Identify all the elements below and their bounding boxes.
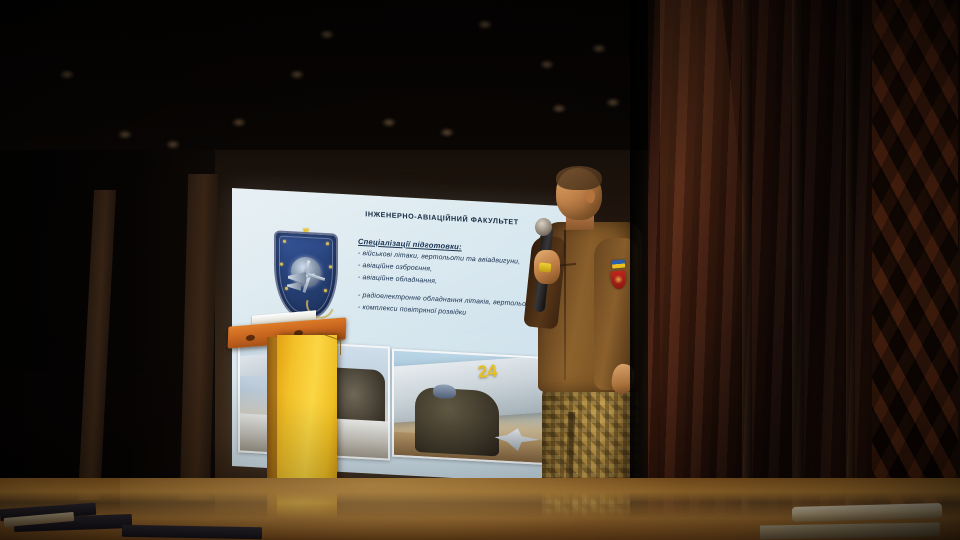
aircraft-icon	[288, 271, 306, 284]
stage-scene: ІНЖЕНЕРНО-АВІАЦІЙНИЙ ФАКУЛЬТЕТ ▼	[0, 0, 960, 540]
ceiling-light-icon	[592, 44, 606, 53]
ceiling-light-icon	[440, 128, 454, 137]
curtain-fold	[742, 0, 752, 540]
hair	[556, 166, 602, 190]
decorative-wall-panel	[872, 0, 958, 540]
propeller-hub-icon	[291, 256, 321, 288]
ceiling-light-icon	[606, 98, 620, 107]
foreground-papers	[122, 525, 262, 539]
ceiling-light-icon	[540, 60, 554, 69]
shield-icon	[274, 230, 338, 319]
microphone-tape-band	[539, 262, 552, 272]
ceiling-light-icon	[290, 70, 304, 79]
ceiling-light-icon	[232, 118, 246, 127]
ukraine-flag-patch-icon	[612, 259, 626, 268]
curtain-fold	[846, 0, 855, 540]
ceiling-light-icon	[552, 104, 566, 113]
curtain-fold	[792, 0, 804, 540]
faculty-emblem-icon: ▼	[274, 230, 338, 319]
aircraft-tail-number: 24	[477, 361, 498, 382]
ear	[586, 190, 595, 203]
ceiling-light-icon	[166, 140, 180, 149]
ceiling-light-icon	[118, 130, 132, 139]
ceiling-light-icon	[60, 70, 74, 79]
ceiling-light-icon	[478, 20, 492, 29]
ceiling-light-icon	[382, 118, 396, 127]
ceiling-light-icon	[320, 30, 334, 39]
aircraft-icon	[287, 281, 301, 291]
jacket-zipper	[564, 230, 566, 380]
